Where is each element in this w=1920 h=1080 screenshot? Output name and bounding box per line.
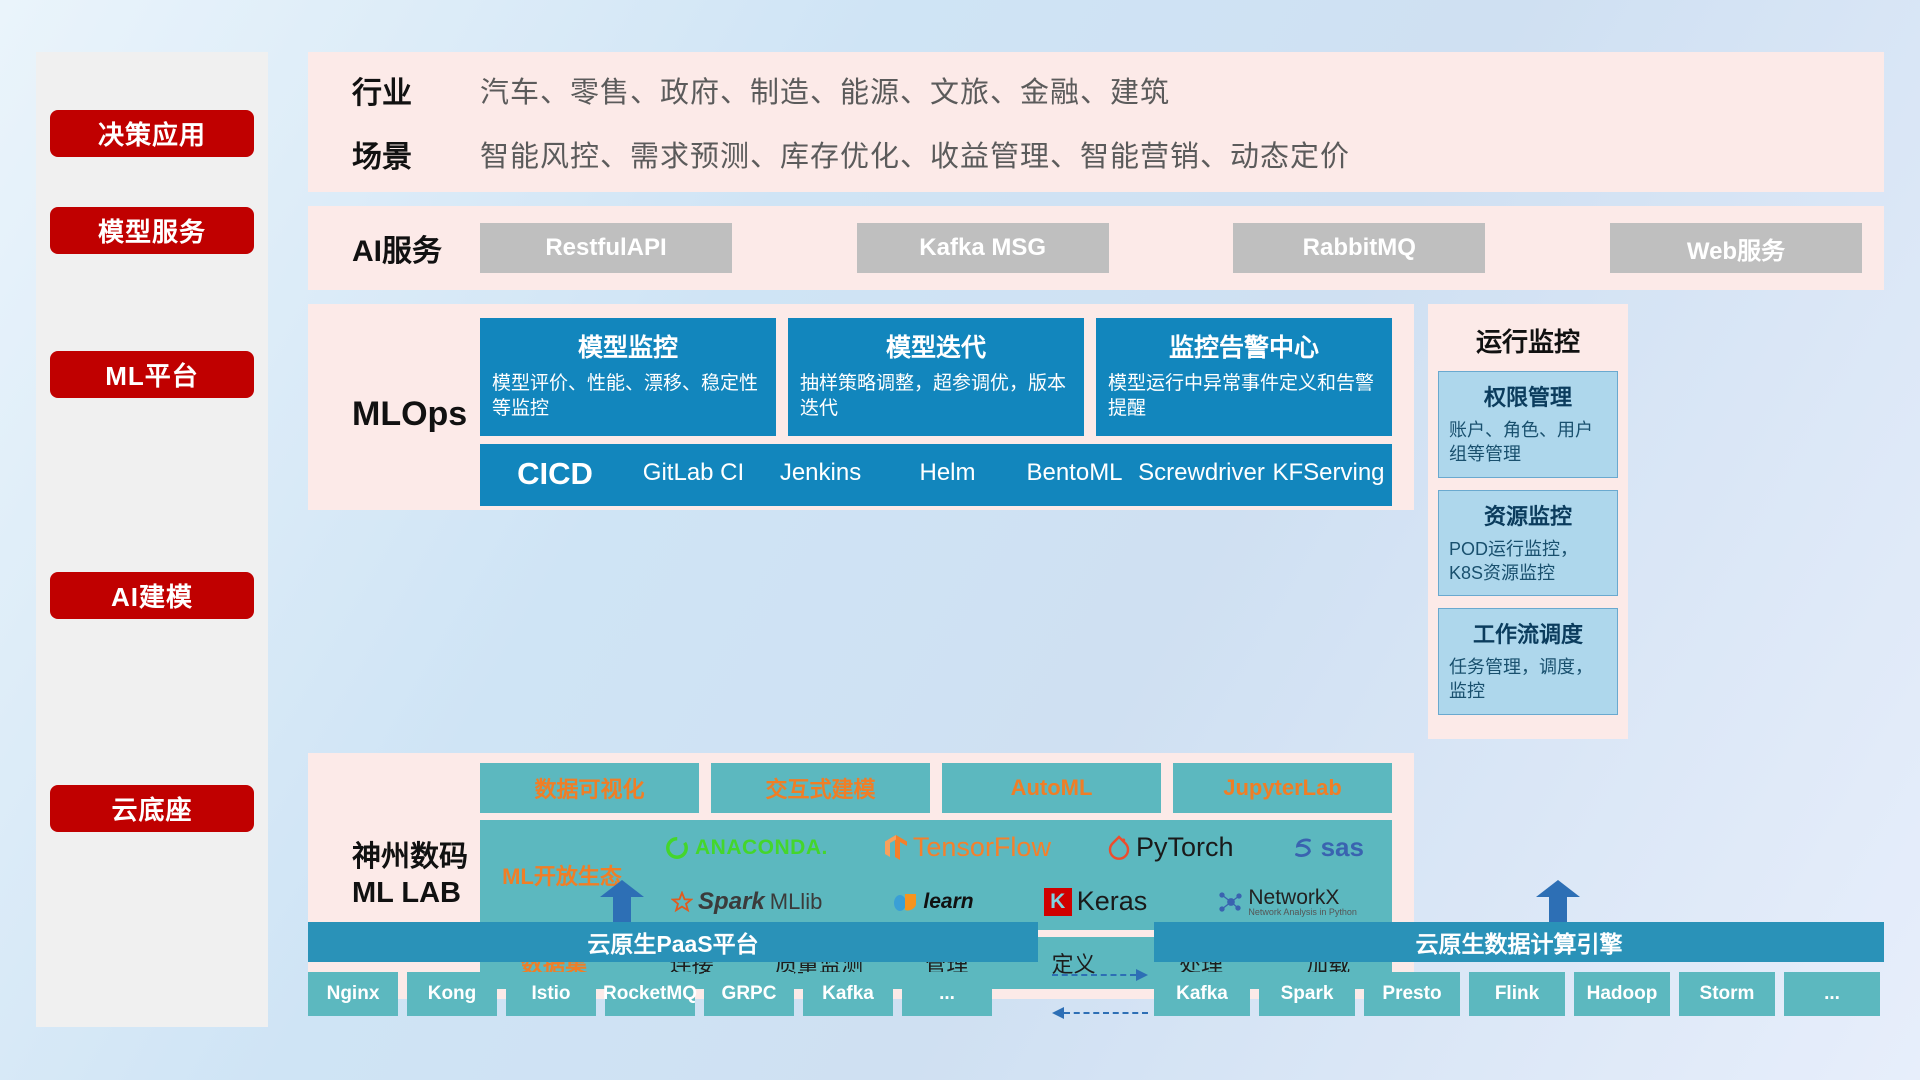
card-title: 模型迭代 [886,328,986,364]
chip-label: Kafka MSG [919,234,1046,262]
card-desc: 账户、角色、用户组等管理 [1449,418,1607,467]
tensorflow-label: TensorFlow [913,832,1051,863]
engine-component-chips: Kafka Spark Presto Flink Hadoop Storm ..… [1154,972,1880,1016]
mlops-card-model-monitoring[interactable]: 模型监控 模型评价、性能、漂移、稳定性等监控 [480,318,776,436]
sidebar-item-ml-platform[interactable]: ML平台 [50,351,254,398]
ai-service-chip-web-service[interactable]: Web服务 [1610,223,1862,273]
sidebar-item-ai-modeling[interactable]: AI建模 [50,572,254,619]
dashed-arrow-right-icon [1052,968,1148,982]
cicd-item-gitlab-ci[interactable]: GitLab CI [630,444,757,488]
band-gap [308,290,1884,304]
tensorflow-icon [884,834,908,862]
dashed-arrow-left-icon [1052,1006,1148,1020]
cicd-title: CICD [480,444,630,492]
card-desc: 任务管理，调度，监控 [1449,655,1607,704]
layer-rail: 决策应用 模型服务 ML平台 AI建模 云底座 [36,52,268,1027]
ecosystem-logo-line-1: ANACONDA. TensorFlow [636,822,1392,874]
paas-component-chips: Nginx Kong Istio RocketMQ GRPC Kafka ... [308,972,992,1016]
runtime-monitor-panel: 运行监控 权限管理 账户、角色、用户组等管理 资源监控 POD运行监控，K8S资… [1428,304,1628,739]
monitor-card-permission[interactable]: 权限管理 账户、角色、用户组等管理 [1438,371,1618,478]
mlops-band: MLOps 模型监控 模型评价、性能、漂移、稳定性等监控 模型迭代 抽样策略调整… [308,304,1414,510]
sas-logo: sas [1290,832,1364,863]
card-desc: 模型评价、性能、漂移、稳定性等监控 [492,371,764,421]
card-title: 工作流调度 [1449,617,1607,649]
card-desc: 模型运行中异常事件定义和告警提醒 [1108,371,1380,421]
paas-up-arrow-icon [600,880,644,922]
sidebar-item-label: AI建模 [111,577,193,614]
cloud-base-section: 云原生PaaS平台 云原生数据计算引擎 Nginx Kong Istio Roc… [308,880,1884,1030]
engine-up-arrow-icon [1536,880,1580,922]
runtime-monitor-title: 运行监控 [1438,314,1618,371]
engine-chip-presto[interactable]: Presto [1364,972,1460,1016]
paas-chip-kafka[interactable]: Kafka [803,972,893,1016]
paas-chip-kong[interactable]: Kong [407,972,497,1016]
mlops-card-alert-center[interactable]: 监控告警中心 模型运行中异常事件定义和告警提醒 [1096,318,1392,436]
monitor-card-workflow[interactable]: 工作流调度 任务管理，调度，监控 [1438,608,1618,715]
paas-platform-bar[interactable]: 云原生PaaS平台 [308,922,1038,962]
mlops-row: MLOps 模型监控 模型评价、性能、漂移、稳定性等监控 模型迭代 抽样策略调整… [308,304,1884,739]
data-engine-title: 云原生数据计算引擎 [1416,925,1623,959]
cicd-bar: CICD GitLab CI Jenkins Helm BentoML Scre… [480,444,1392,506]
lab-tool-jupyterlab[interactable]: JupyterLab [1173,763,1392,813]
sidebar-item-decision-app[interactable]: 决策应用 [50,110,254,157]
card-title: 权限管理 [1449,380,1607,412]
anaconda-label: ANACONDA. [695,836,828,860]
mlops-card-model-iteration[interactable]: 模型迭代 抽样策略调整，超参调优，版本迭代 [788,318,1084,436]
pytorch-icon [1107,834,1131,862]
chip-label: RabbitMQ [1303,234,1416,262]
band-gap [308,192,1884,206]
card-title: 模型监控 [578,328,678,364]
sidebar-item-label: 云底座 [111,790,192,827]
industry-label: 行业 [330,68,480,112]
cicd-item-screwdriver[interactable]: Screwdriver [1138,444,1265,488]
engine-chip-spark[interactable]: Spark [1259,972,1355,1016]
industry-row: 行业 汽车、零售、政府、制造、能源、文旅、金融、建筑 [330,68,1862,112]
ai-service-chip-rabbitmq[interactable]: RabbitMQ [1233,223,1485,273]
industry-values: 汽车、零售、政府、制造、能源、文旅、金融、建筑 [480,69,1170,111]
architecture-diagram: 决策应用 模型服务 ML平台 AI建模 云底座 行业 汽车、零售、政府、制造、能… [0,0,1920,1080]
data-engine-bar[interactable]: 云原生数据计算引擎 [1154,922,1884,962]
sas-icon [1290,835,1316,861]
sidebar-item-label: 模型服务 [98,212,206,249]
chip-label: Web服务 [1687,231,1785,266]
lab-tool-automl[interactable]: AutoML [942,763,1161,813]
card-desc: 抽样策略调整，超参调优，版本迭代 [800,371,1072,421]
ai-service-chip-restfulapi[interactable]: RestfulAPI [480,223,732,273]
cicd-item-kfserving[interactable]: KFServing [1265,444,1392,488]
ai-service-label: AI服务 [330,226,480,270]
paas-chip-grpc[interactable]: GRPC [704,972,794,1016]
scenario-values: 智能风控、需求预测、库存优化、收益管理、智能营销、动态定价 [480,133,1350,175]
engine-chip-storm[interactable]: Storm [1679,972,1775,1016]
paas-chip-nginx[interactable]: Nginx [308,972,398,1016]
anaconda-logo: ANACONDA. [664,835,828,861]
lab-tool-interactive-modeling[interactable]: 交互式建模 [711,763,930,813]
band-gap [308,739,1884,753]
card-title: 监控告警中心 [1169,328,1319,364]
paas-chip-rocketmq[interactable]: RocketMQ [605,972,695,1016]
paas-chip-istio[interactable]: Istio [506,972,596,1016]
anaconda-icon [664,835,690,861]
mlops-label: MLOps [330,318,480,510]
ai-service-chip-kafka-msg[interactable]: Kafka MSG [857,223,1109,273]
sas-label: sas [1321,832,1364,863]
main-column: 行业 汽车、零售、政府、制造、能源、文旅、金融、建筑 场景 智能风控、需求预测、… [308,52,1884,999]
pytorch-logo: PyTorch [1107,832,1234,863]
scenario-label: 场景 [330,132,480,176]
sidebar-item-label: ML平台 [105,356,199,393]
ml-lab-label-line1: 神州数码 [352,840,480,875]
lab-tool-data-visualization[interactable]: 数据可视化 [480,763,699,813]
cicd-item-bentoml[interactable]: BentoML [1011,444,1138,488]
cicd-item-helm[interactable]: Helm [884,444,1011,488]
scenario-row: 场景 智能风控、需求预测、库存优化、收益管理、智能营销、动态定价 [330,132,1862,176]
sidebar-item-model-service[interactable]: 模型服务 [50,207,254,254]
monitor-card-resource[interactable]: 资源监控 POD运行监控，K8S资源监控 [1438,490,1618,597]
cicd-item-jenkins[interactable]: Jenkins [757,444,884,488]
sidebar-item-label: 决策应用 [98,115,206,152]
sidebar-item-cloud-base[interactable]: 云底座 [50,785,254,832]
tensorflow-logo: TensorFlow [884,832,1051,863]
card-title: 资源监控 [1449,499,1607,531]
industry-scenario-band: 行业 汽车、零售、政府、制造、能源、文旅、金融、建筑 场景 智能风控、需求预测、… [308,52,1884,192]
paas-platform-title: 云原生PaaS平台 [587,925,758,959]
paas-chip-more[interactable]: ... [902,972,992,1016]
engine-chip-kafka[interactable]: Kafka [1154,972,1250,1016]
engine-chip-hadoop[interactable]: Hadoop [1574,972,1670,1016]
pytorch-label: PyTorch [1136,832,1234,863]
card-desc: POD运行监控，K8S资源监控 [1449,537,1607,586]
chip-label: RestfulAPI [545,234,666,262]
engine-chip-flink[interactable]: Flink [1469,972,1565,1016]
engine-chip-more[interactable]: ... [1784,972,1880,1016]
ai-service-band: AI服务 RestfulAPI Kafka MSG RabbitMQ Web服务 [308,206,1884,290]
